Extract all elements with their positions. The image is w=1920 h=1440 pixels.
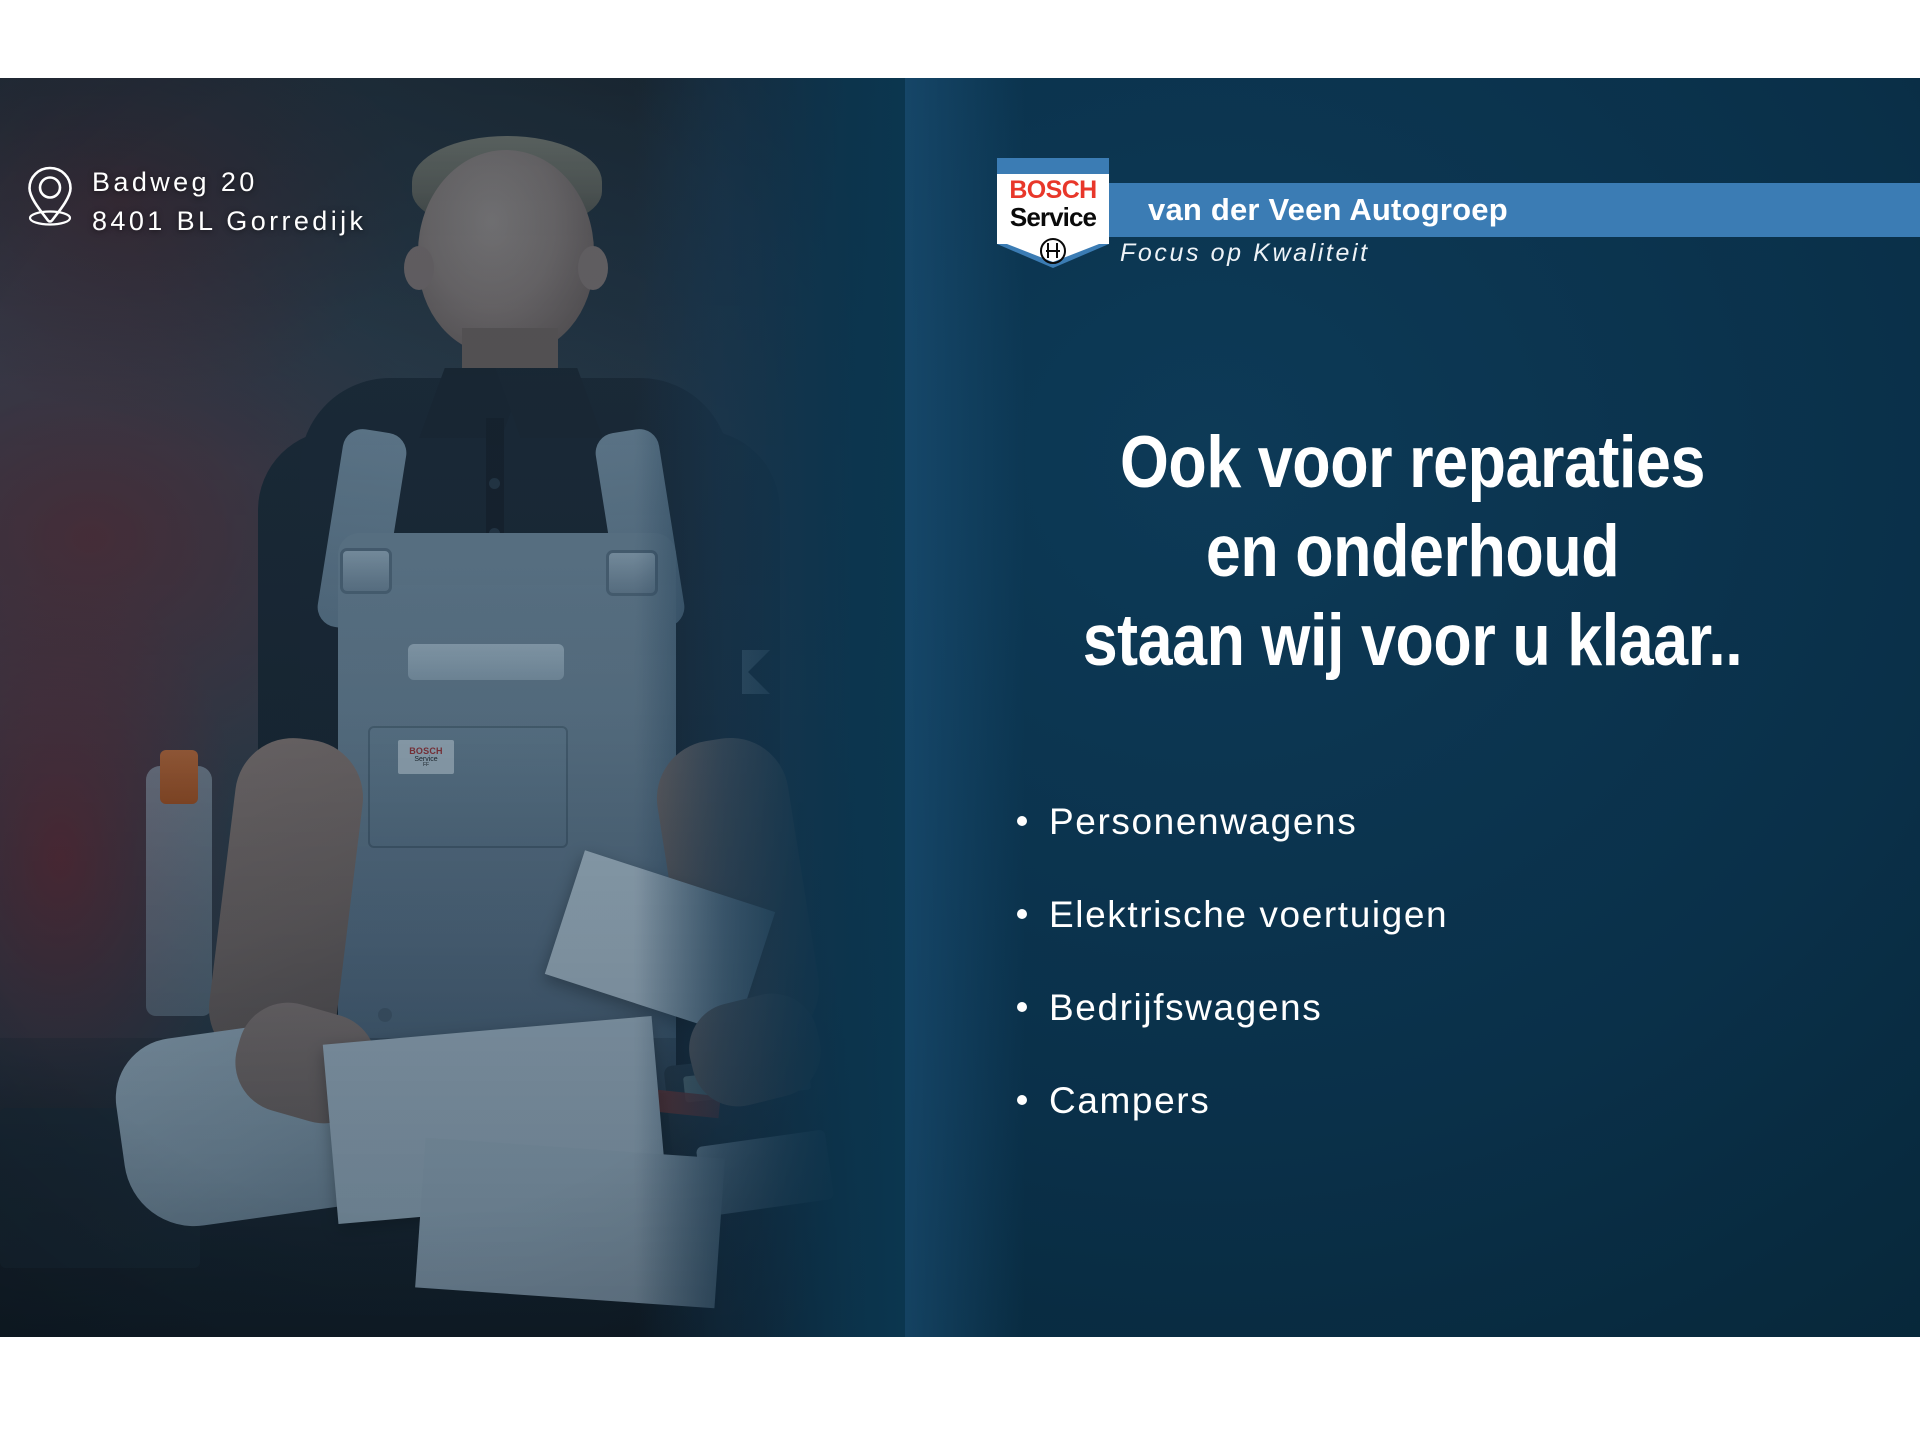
list-item: Campers [905, 1082, 1920, 1119]
service-label: Bedrijfswagens [1049, 989, 1322, 1026]
address-line-2: 8401 BL Gorredijk [92, 202, 366, 241]
banner-area: BOSCH Service FF [0, 78, 1920, 1337]
headline-line-3: staan wij voor u klaar.. [976, 596, 1849, 685]
headline-block: Ook voor reparaties en onderhoud staan w… [976, 418, 1849, 685]
bosch-wordmark: BOSCH [997, 178, 1109, 203]
address-lines: Badweg 20 8401 BL Gorredijk [92, 163, 366, 241]
company-tagline: Focus op Kwaliteit [1120, 233, 1820, 273]
bosch-service-wordmark: Service [997, 204, 1109, 230]
mechanic-photo: BOSCH Service FF [0, 78, 905, 1337]
bullet-dot-icon [1017, 1002, 1027, 1012]
service-label: Elektrische voertuigen [1049, 896, 1448, 933]
bosch-armature-icon [1040, 238, 1066, 264]
headline-line-1: Ook voor reparaties [976, 418, 1849, 507]
address-block: Badweg 20 8401 BL Gorredijk [24, 163, 366, 241]
service-label: Campers [1049, 1082, 1210, 1119]
services-list: Personenwagens Elektrische voertuigen Be… [905, 803, 1920, 1119]
list-item: Personenwagens [905, 803, 1920, 840]
bosch-logo-top-band [997, 158, 1109, 174]
bullet-dot-icon [1017, 1095, 1027, 1105]
bosch-service-logo: BOSCH Service [997, 158, 1109, 268]
bullet-dot-icon [1017, 909, 1027, 919]
company-name: van der Veen Autogroep [1148, 183, 1918, 237]
service-label: Personenwagens [1049, 803, 1357, 840]
bullet-dot-icon [1017, 816, 1027, 826]
headline-line-2: en onderhoud [976, 507, 1849, 596]
list-item: Elektrische voertuigen [905, 896, 1920, 933]
list-item: Bedrijfswagens [905, 989, 1920, 1026]
location-pin-icon [24, 165, 76, 227]
advertisement-slide: BOSCH Service FF [0, 0, 1920, 1440]
photo-to-panel-fade [640, 78, 905, 1337]
address-line-1: Badweg 20 [92, 163, 366, 202]
